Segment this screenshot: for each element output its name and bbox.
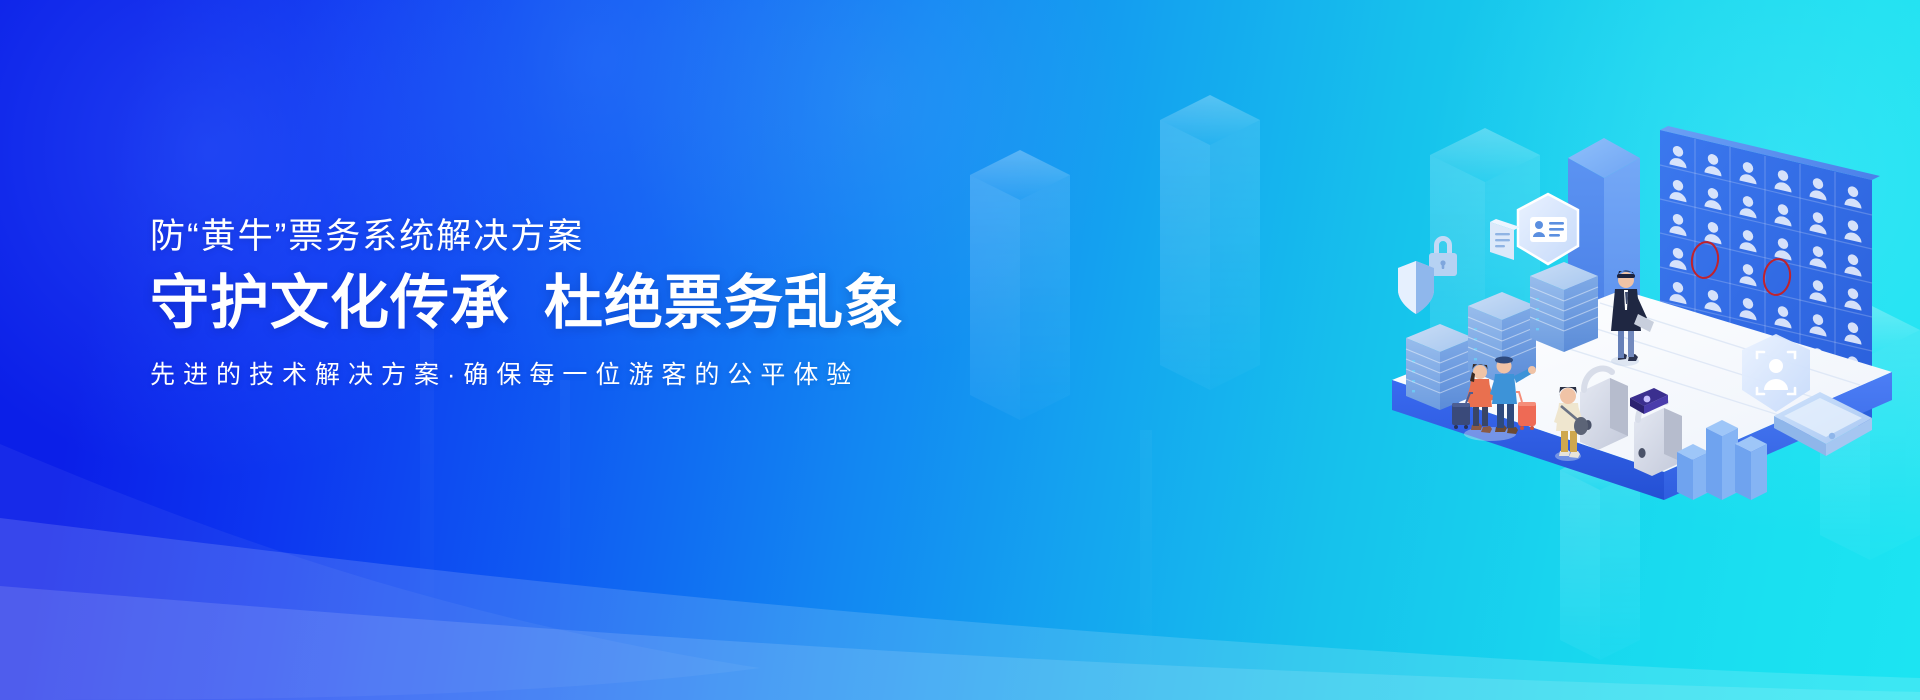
banner-headline: 守护文化传承杜绝票务乱象 <box>150 269 970 337</box>
server-rack <box>1530 262 1598 352</box>
banner-eyebrow: 防“黄牛”票务系统解决方案 <box>150 215 970 259</box>
banner-subline: 先进的技术解决方案·确保每一位游客的公平体验 <box>150 359 970 392</box>
document-icon <box>1490 219 1520 260</box>
headline-part-left: 守护文化传承 <box>150 270 510 336</box>
shield-icon <box>1398 261 1434 314</box>
headline-part-right: 杜绝票务乱象 <box>544 270 904 336</box>
hero-illustration <box>1372 100 1892 500</box>
server-rack <box>1406 324 1474 410</box>
hero-banner: 防“黄牛”票务系统解决方案 守护文化传承杜绝票务乱象 先进的技术解决方案·确保每… <box>0 0 1920 700</box>
banner-copy: 防“黄牛”票务系统解决方案 守护文化传承杜绝票务乱象 先进的技术解决方案·确保每… <box>150 215 970 392</box>
